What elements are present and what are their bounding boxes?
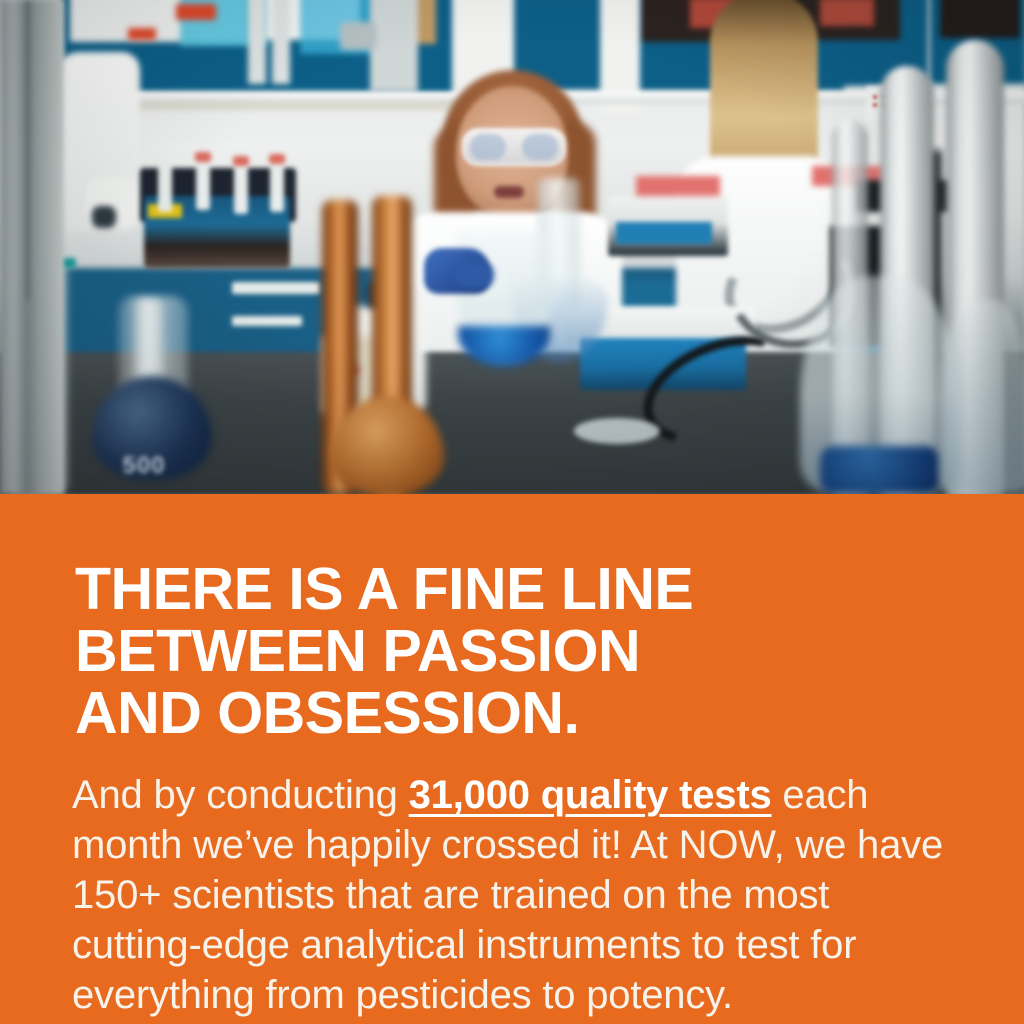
cabinet-glass-divider [370, 0, 418, 92]
lab-photo: 500 [0, 0, 1024, 494]
test-tube-1 [158, 160, 172, 212]
red-label-a [176, 4, 216, 20]
erlenmeyer-flask-right-2 [940, 300, 1024, 494]
cabinet-item-gray [340, 22, 376, 50]
bench-label-2 [232, 316, 302, 326]
body-copy: And by conducting 31,000 quality tests e… [72, 770, 952, 1020]
cabinet-dark-shelf-c [940, 0, 1020, 38]
test-tube-2 [196, 158, 210, 210]
test-tube-cap-2 [195, 152, 211, 162]
flask-volume-label: 500 [104, 452, 184, 478]
door-frame-seam [26, 0, 30, 300]
cabinet-handle-b [272, 0, 290, 84]
test-tube-cap-4 [269, 154, 285, 164]
blue-nitrile-glove-fingers [454, 262, 494, 288]
goggle-lens-right [522, 134, 558, 160]
door-frame-left [0, 0, 64, 494]
test-tube-3 [234, 162, 248, 214]
blue-liquid-right [820, 446, 940, 494]
cabinet-handle-a [248, 0, 266, 84]
body-copy-highlight: 31,000 quality tests [409, 773, 772, 817]
pink-tray-1 [636, 176, 720, 196]
test-tube-4 [270, 160, 284, 212]
body-copy-before: And by conducting [72, 773, 409, 817]
test-tube-cap-3 [233, 156, 249, 166]
social-card: 500 THERE IS A FINE LINE BETWEEN PASSION… [0, 0, 1024, 1024]
orange-text-panel: THERE IS A FINE LINE BETWEEN PASSION AND… [0, 494, 1024, 1024]
headline: THERE IS A FINE LINE BETWEEN PASSION AND… [75, 558, 935, 744]
petri-dish [574, 418, 660, 444]
bench-label-1 [232, 282, 320, 294]
scientist-center-mouth [494, 186, 524, 198]
cabinet-red-item-b [820, 0, 874, 26]
right-instrument-blue-panel [616, 222, 712, 244]
goggle-lens-left [470, 134, 506, 160]
red-label-b [128, 28, 156, 40]
scientist-left-hand [92, 206, 116, 228]
